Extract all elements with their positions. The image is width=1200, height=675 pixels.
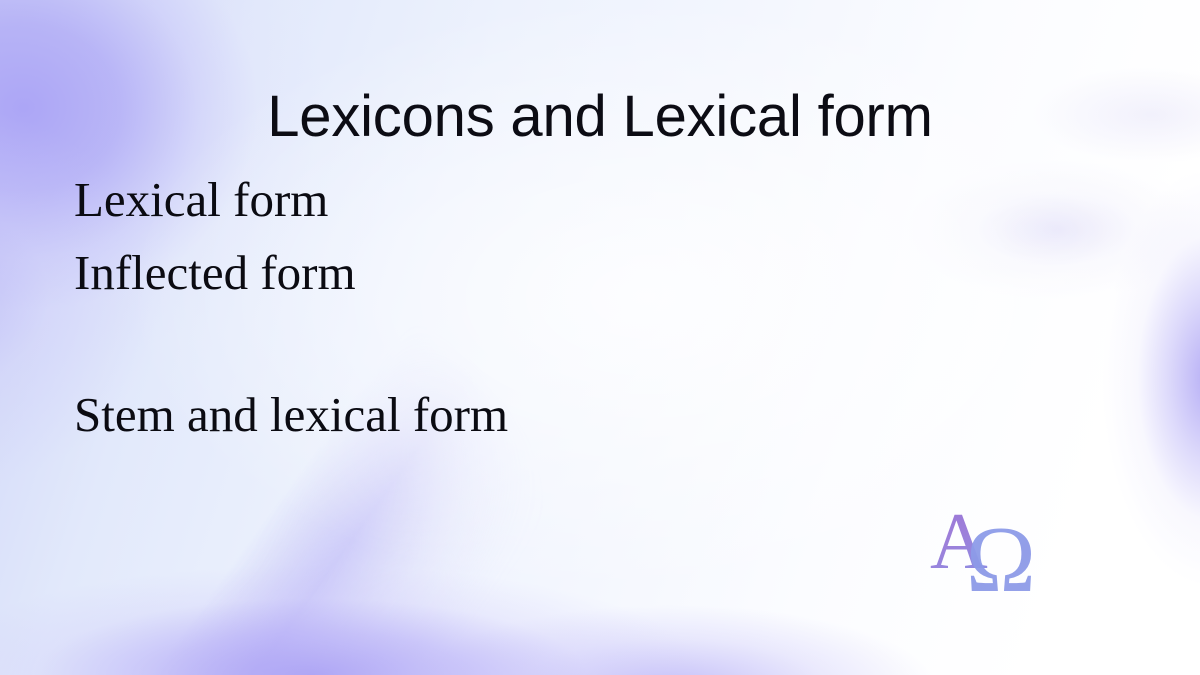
slide-title: Lexicons and Lexical form [0,87,1200,148]
omega-glyph: Ω [966,508,1036,594]
body-line-lexical-form: Lexical form [74,164,508,237]
presentation-slide: Lexicons and Lexical form Lexical form I… [0,0,1200,675]
body-line-stem-and-lexical-form: Stem and lexical form [74,379,508,452]
slide-content: Lexicons and Lexical form Lexical form I… [0,0,1200,675]
slide-body-list: Lexical form Inflected form Stem and lex… [74,164,508,452]
alpha-omega-logo: Α Ω [928,496,1060,594]
body-line-inflected-form: Inflected form [74,237,508,310]
